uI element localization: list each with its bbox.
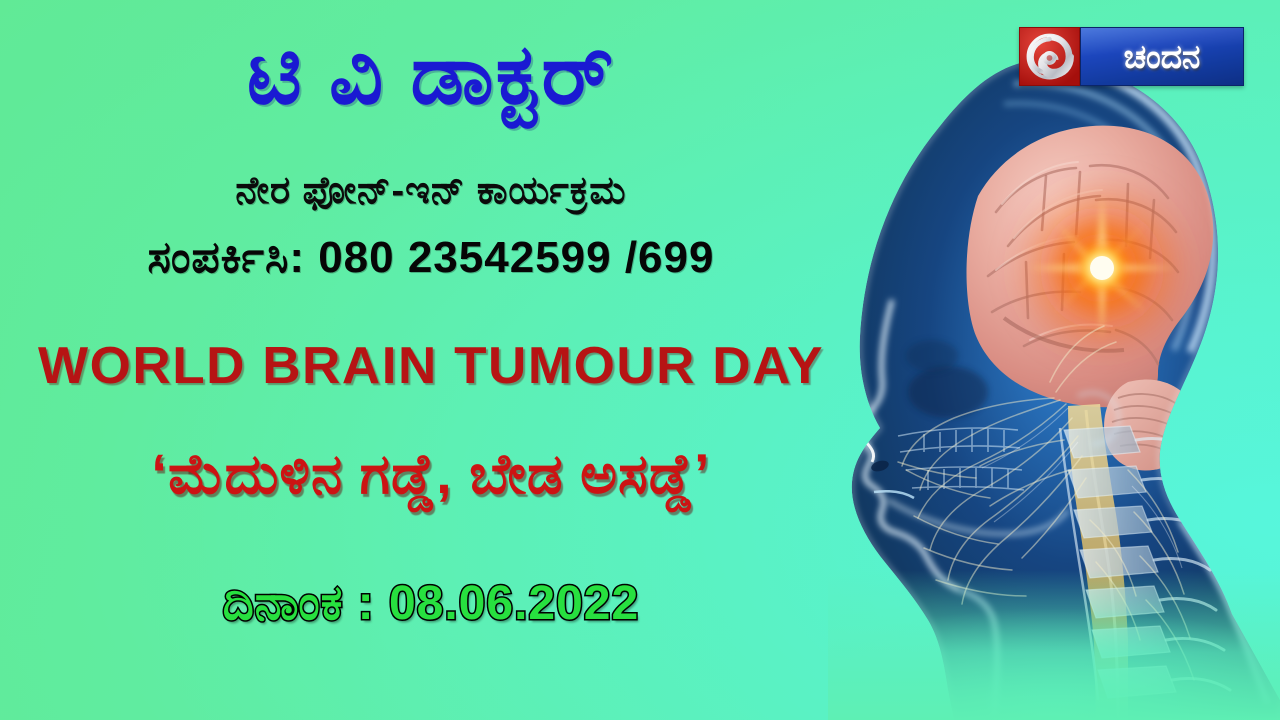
contact-phone-line: ಸಂಪರ್ಕಿಸಿ: 080 23542599 /699 xyxy=(0,236,862,280)
programme-info-block: ಟಿ ವಿ ಡಾಕ್ಟರ್ ನೇರ ಫೋನ್-ಇನ್ ಕಾರ್ಯಕ್ರಮ ಸಂಪ… xyxy=(0,0,862,720)
broadcast-lower-third-graphic: ಟಿ ವಿ ಡಾಕ್ಟರ್ ನೇರ ಫೋನ್-ಇನ್ ಕಾರ್ಯಕ್ರಮ ಸಂಪ… xyxy=(0,0,1280,720)
channel-name-plate: ಚಂದನ xyxy=(1080,27,1244,86)
show-title: ಟಿ ವಿ ಡಾಕ್ಟರ್ xyxy=(0,32,862,116)
channel-logo: ಚಂದನ xyxy=(1019,27,1244,86)
channel-name-text: ಚಂದನ xyxy=(1124,40,1201,73)
broadcast-date-line: ದಿನಾಂಕ : 08.06.2022 xyxy=(0,580,862,628)
programme-type-label: ನೇರ ಫೋನ್-ಇನ್ ಕಾರ್ಯಕ್ರಮ xyxy=(0,172,862,210)
dd-spiral-eye-icon xyxy=(1019,27,1080,86)
observance-title-english: WORLD BRAIN TUMOUR DAY xyxy=(0,340,871,392)
episode-topic-kannada: ‘ಮೆದುಳಿನ ಗಡ್ಡೆ, ಬೇಡ ಅಸಡ್ಡೆ’ xyxy=(0,446,862,502)
